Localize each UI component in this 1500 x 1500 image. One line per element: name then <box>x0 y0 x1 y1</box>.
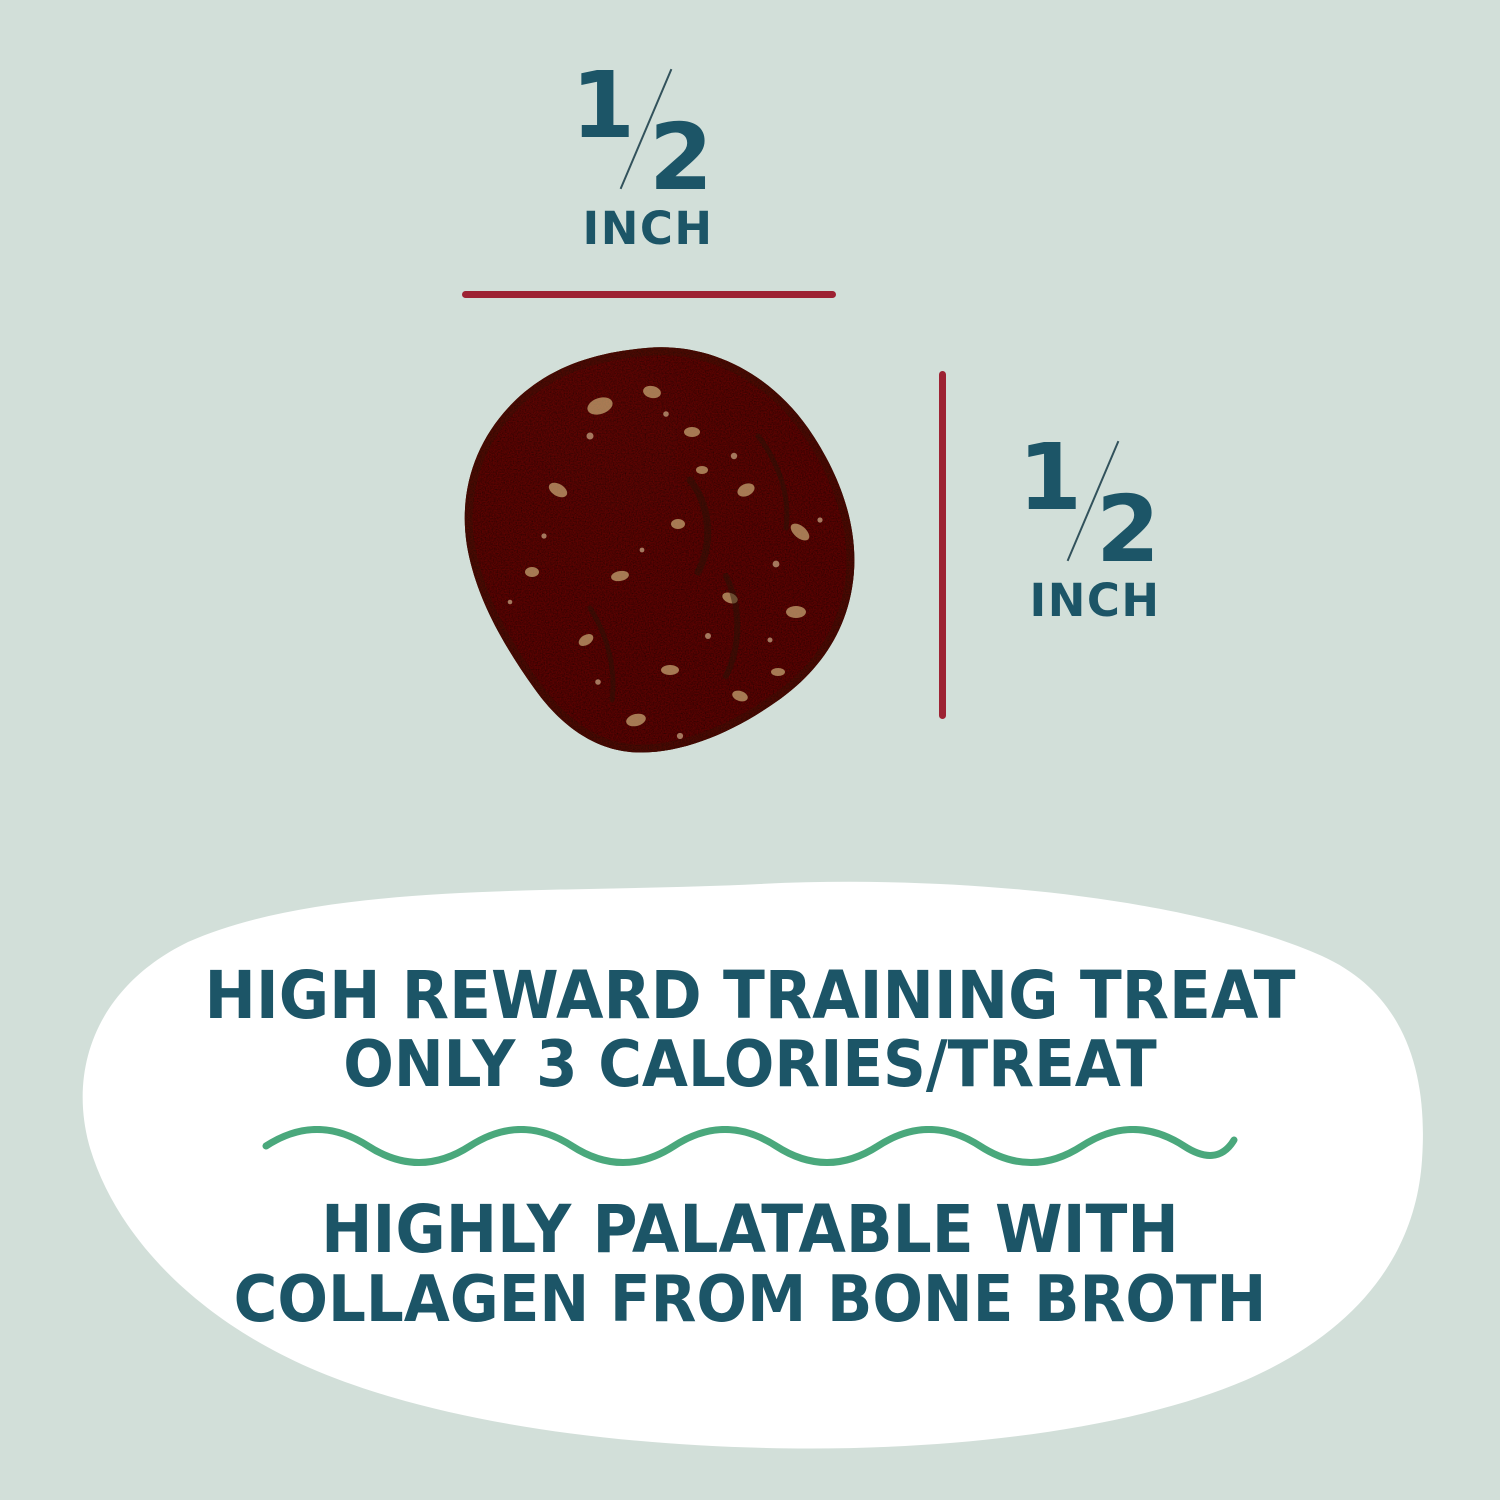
vertical-measure-rule <box>939 371 946 719</box>
fraction-one-half-top: 1 2 <box>553 60 743 200</box>
horizontal-measure-rule <box>462 291 836 298</box>
headline-line-3: HIGHLY PALATABLE WITH <box>53 1194 1448 1265</box>
unit-label-inch-top: INCH <box>553 206 743 251</box>
headline-group-2: HIGHLY PALATABLE WITH COLLAGEN FROM BONE… <box>0 1194 1500 1334</box>
fraction-numerator: 1 <box>1018 432 1081 524</box>
fraction-denominator: 2 <box>649 112 712 204</box>
infographic-canvas: 1 2 INCH 1 2 INCH <box>0 0 1500 1500</box>
fraction-denominator: 2 <box>1096 484 1159 576</box>
wavy-divider-icon <box>260 1126 1240 1170</box>
headline-group-1: HIGH REWARD TRAINING TREAT ONLY 3 CALORI… <box>0 960 1500 1100</box>
treat-kibble-icon <box>440 340 890 780</box>
callout-text-group: HIGH REWARD TRAINING TREAT ONLY 3 CALORI… <box>0 960 1500 1335</box>
treat-product-image <box>440 340 890 780</box>
unit-label-inch-right: INCH <box>1000 578 1190 623</box>
height-measurement-label: 1 2 INCH <box>1000 432 1190 623</box>
fraction-numerator: 1 <box>571 60 634 152</box>
headline-line-2: ONLY 3 CALORIES/TREAT <box>53 1031 1448 1100</box>
width-measurement-label: 1 2 INCH <box>553 60 743 251</box>
headline-line-4: COLLAGEN FROM BONE BROTH <box>53 1266 1448 1335</box>
fraction-one-half-right: 1 2 <box>1000 432 1190 572</box>
headline-line-1: HIGH REWARD TRAINING TREAT <box>53 960 1448 1031</box>
